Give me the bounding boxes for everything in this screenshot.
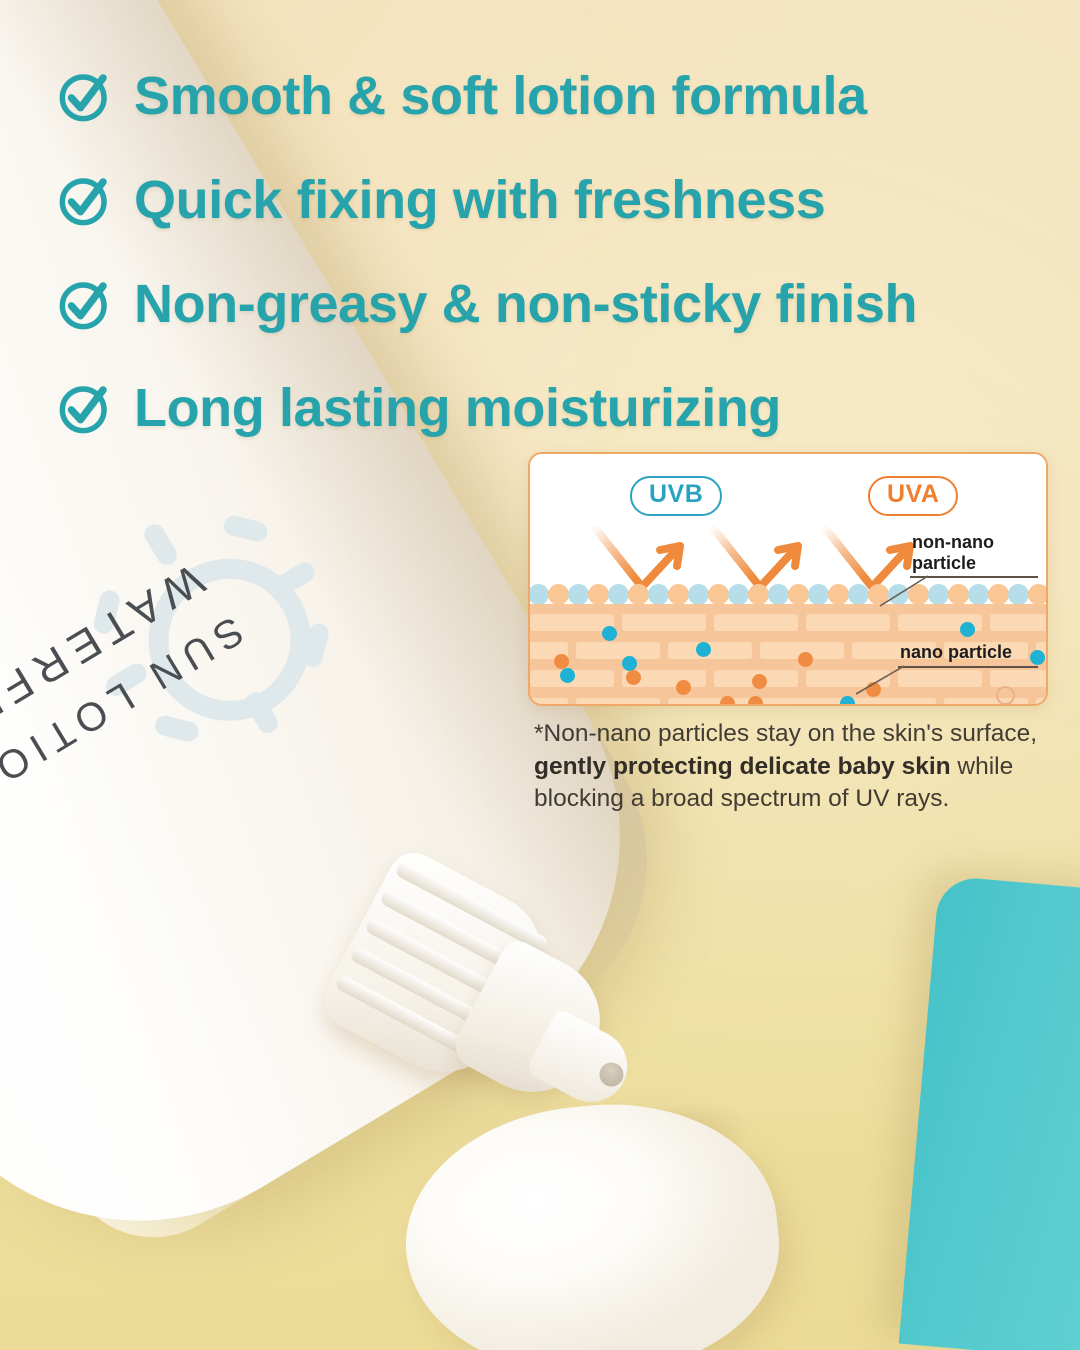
nano-particle xyxy=(602,626,617,641)
skin-brick xyxy=(576,698,660,704)
non-nano-particle xyxy=(848,584,869,605)
non-nano-particle xyxy=(568,584,589,605)
skin-brick xyxy=(852,698,936,704)
non-nano-particle xyxy=(928,584,949,605)
benefit-label: Quick fixing with freshness xyxy=(134,169,825,231)
nano-particle xyxy=(622,656,637,671)
skin-brick xyxy=(530,614,614,631)
nano-underline xyxy=(898,666,1038,668)
nano-particle xyxy=(720,696,735,704)
non-nano-particle xyxy=(688,584,709,605)
caption-part1: *Non-nano particles stay on the skin's s… xyxy=(534,720,1037,747)
nano-particle xyxy=(626,670,641,685)
skin-brick xyxy=(944,698,1028,704)
benefit-item: Smooth & soft lotion formula xyxy=(56,44,1036,148)
nano-particle-outline xyxy=(996,686,1015,704)
check-circle-icon xyxy=(56,171,114,229)
non-nano-particle xyxy=(828,584,849,605)
check-circle-icon xyxy=(56,379,114,437)
non-nano-particle xyxy=(548,584,569,605)
nano-particle xyxy=(840,696,855,704)
nano-particle xyxy=(560,668,575,683)
non-nano-particle xyxy=(648,584,669,605)
non-nano-particle xyxy=(588,584,609,605)
skin-brick xyxy=(622,614,706,631)
non-nano-particle xyxy=(1028,584,1048,605)
benefit-label: Smooth & soft lotion formula xyxy=(134,65,867,127)
diagram-caption: *Non-nano particles stay on the skin's s… xyxy=(534,718,1044,816)
skin-brick xyxy=(714,614,798,631)
skin-brick xyxy=(1036,698,1046,704)
nano-particle xyxy=(1030,650,1045,665)
skin-brick xyxy=(668,698,752,704)
caption-bold: gently protecting delicate baby skin xyxy=(534,753,951,780)
non-nano-particle xyxy=(628,584,649,605)
skin-brick xyxy=(806,614,890,631)
non-nano-particle xyxy=(1008,584,1029,605)
benefit-label: Long lasting moisturizing xyxy=(134,377,781,439)
uv-protection-diagram: UVB UVA xyxy=(528,452,1048,706)
non-nano-particle xyxy=(788,584,809,605)
skin-brick xyxy=(760,698,844,704)
nano-particle xyxy=(960,622,975,637)
nano-particle xyxy=(554,654,569,669)
non-nano-line2: particle xyxy=(912,553,976,573)
nano-particle xyxy=(696,642,711,657)
nano-particle xyxy=(676,680,691,695)
non-nano-particle xyxy=(748,584,769,605)
benefits-list: Smooth & soft lotion formula Quick fixin… xyxy=(56,44,1036,460)
non-nano-particle xyxy=(528,584,549,605)
non-nano-particle xyxy=(808,584,829,605)
nano-particle xyxy=(798,652,813,667)
skin-brick xyxy=(530,698,568,704)
skin-brick xyxy=(990,614,1046,631)
check-circle-icon xyxy=(56,275,114,333)
nano-particle-label: nano particle xyxy=(900,642,1012,663)
product-marketing-image: WATERFUL SUN LOTION Smooth & soft lotion… xyxy=(0,0,1080,1350)
uv-ray-2 xyxy=(714,529,798,587)
non-nano-particle xyxy=(708,584,729,605)
benefit-label: Non-greasy & non-sticky finish xyxy=(134,273,917,335)
non-nano-particle-label: non-nano particle xyxy=(912,532,994,573)
skin-brick xyxy=(990,670,1046,687)
nano-leader-line xyxy=(848,664,906,696)
skin-brick xyxy=(576,642,660,659)
nano-particle xyxy=(748,696,763,704)
non-nano-particle xyxy=(948,584,969,605)
benefit-item: Non-greasy & non-sticky finish xyxy=(56,252,1036,356)
non-nano-particle xyxy=(988,584,1009,605)
non-nano-particle xyxy=(668,584,689,605)
check-circle-icon xyxy=(56,67,114,125)
nano-particle xyxy=(752,674,767,689)
non-nano-particle xyxy=(768,584,789,605)
non-nano-particle xyxy=(608,584,629,605)
benefit-item: Quick fixing with freshness xyxy=(56,148,1036,252)
non-nano-leader-line xyxy=(870,574,930,608)
non-nano-particle xyxy=(968,584,989,605)
non-nano-line1: non-nano xyxy=(912,532,994,552)
benefit-item: Long lasting moisturizing xyxy=(56,356,1036,460)
skin-brick xyxy=(898,670,982,687)
non-nano-particle xyxy=(728,584,749,605)
uv-ray-1 xyxy=(596,529,680,587)
